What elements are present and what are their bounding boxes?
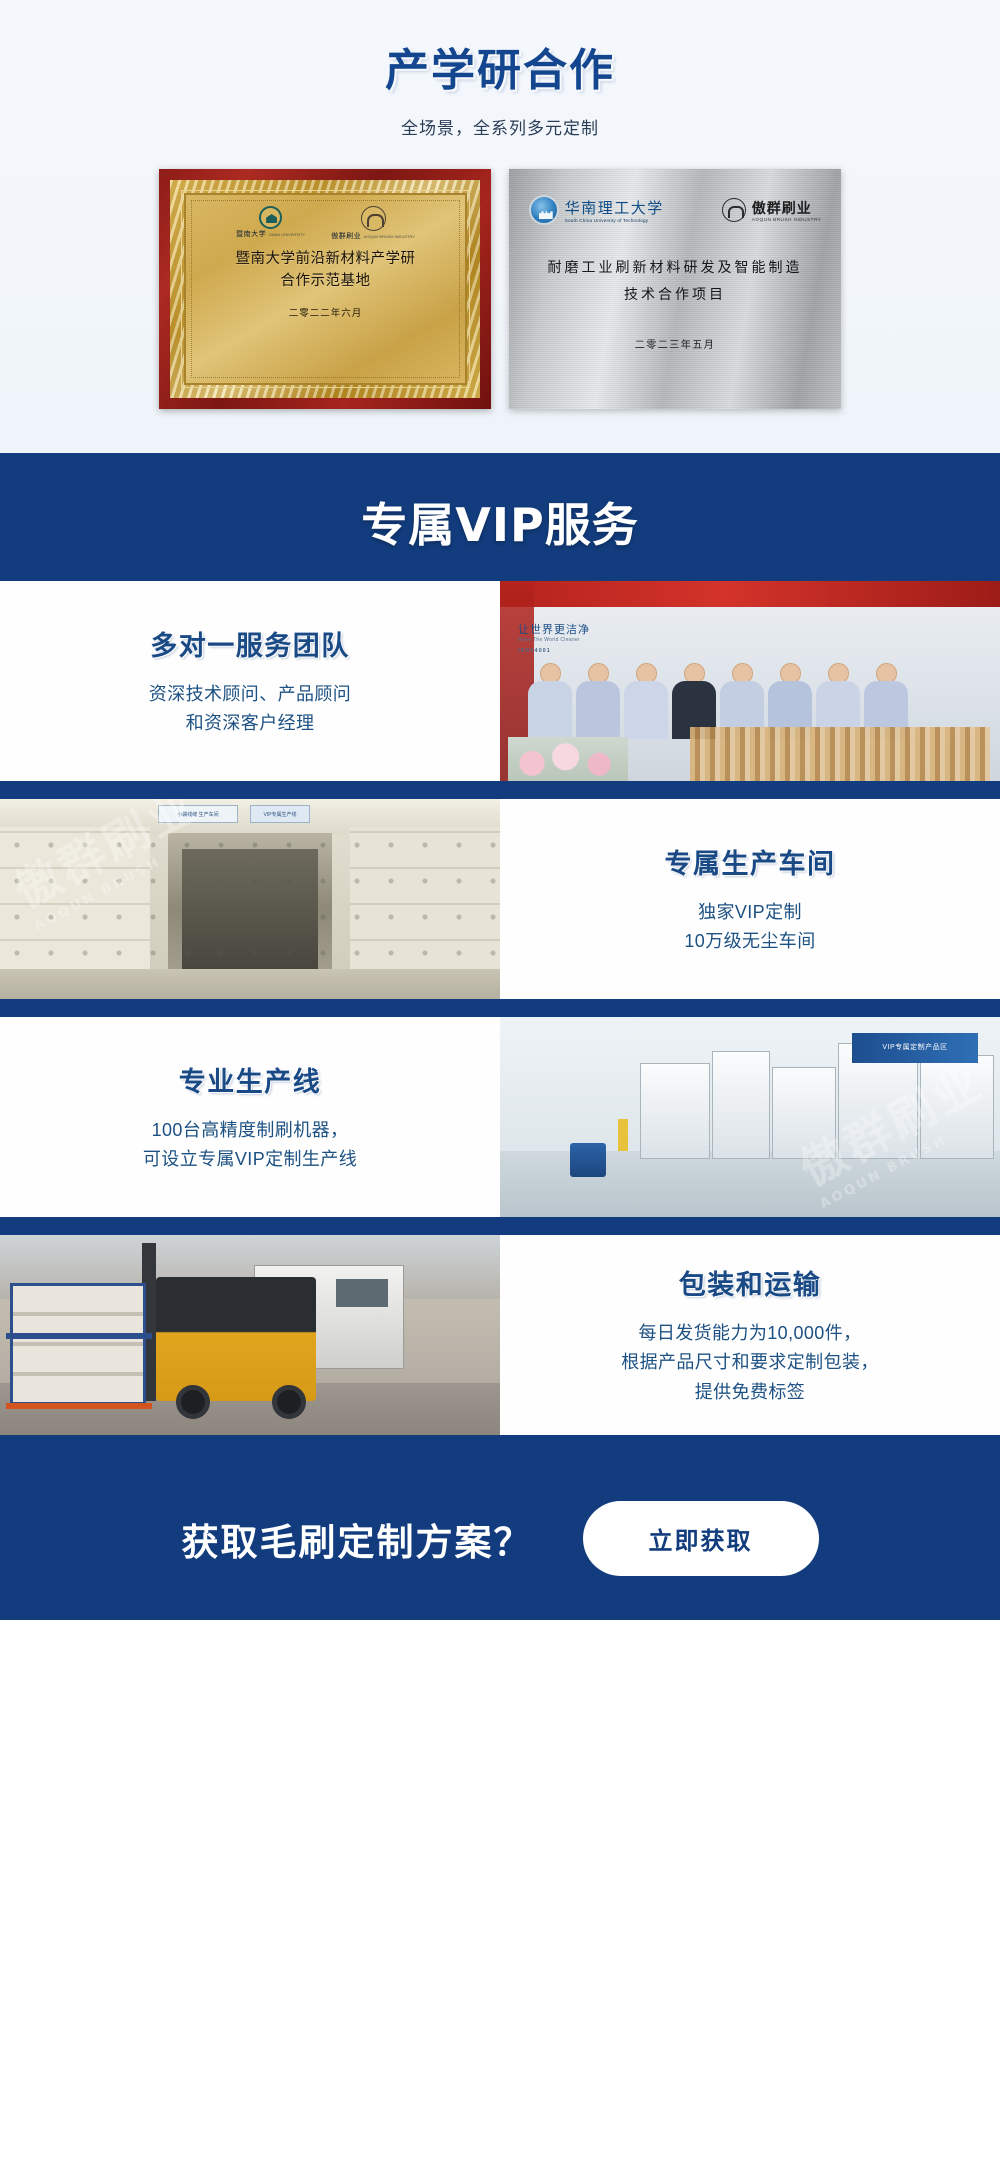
plaque-jinan-university: 暨南大学 JINAN UNIVERSITY 傲群刷业 AOQUN BRUSH I… xyxy=(159,169,491,409)
vip-card-desc-line: 可设立专属VIP定制生产线 xyxy=(143,1145,357,1174)
vip-card-packaging-shipping: 包装和运输 每日发货能力为10,000件， 根据产品尺寸和要求定制包装， 提供免… xyxy=(0,1235,1000,1435)
vip-card-title: 专业生产线 xyxy=(179,1060,322,1099)
team-member xyxy=(576,663,620,739)
vip-card-desc-line: 资深技术顾问、产品顾问 xyxy=(149,680,351,709)
cta-section: 获取毛刷定制方案？ 立即获取 xyxy=(0,1457,1000,1620)
vip-card-text: 专属生产车间 独家VIP定制 10万级无尘车间 xyxy=(500,799,1000,999)
get-quote-button[interactable]: 立即获取 xyxy=(583,1501,819,1576)
workshop-sign-1: 小袋线缝 生产车间 xyxy=(158,805,238,823)
machine xyxy=(640,1063,710,1159)
plaque-date: 二零二二年六月 xyxy=(289,305,363,319)
jinan-university-logo-en: JINAN UNIVERSITY xyxy=(269,232,306,237)
scut-logo-cn: 华南理工大学 xyxy=(565,197,664,218)
plaque-line-2: 合作示范基地 xyxy=(281,270,371,292)
production-line-machines-photo: VIP专属定制产品区 傲群刷业 AOQUN BRUSH xyxy=(500,1017,1000,1217)
booth-slogan-en: Make The World Cleaner xyxy=(518,637,590,643)
team-member xyxy=(528,663,572,739)
vip-card-desc-line: 100台高精度制刷机器， xyxy=(143,1116,357,1145)
aoqun-arch-icon xyxy=(722,198,746,222)
vip-card-list: 多对一服务团队 资深技术顾问、产品顾问 和资深客户经理 让世界更洁净 Make … xyxy=(0,581,1000,1435)
jinan-university-crest-icon xyxy=(259,206,282,229)
vip-card-workshop: 小袋线缝 生产车间 VIP专属生产线 傲群刷业 AOQUN BRUSH 专属生产… xyxy=(0,799,1000,999)
machine xyxy=(920,1055,994,1159)
booth-slogan-cn: 让世界更洁净 xyxy=(518,624,590,636)
flower-arrangement xyxy=(508,737,628,781)
clean-room-corridor-photo: 小袋线缝 生产车间 VIP专属生产线 傲群刷业 AOQUN BRUSH xyxy=(0,799,500,999)
plaque-face: 暨南大学 JINAN UNIVERSITY 傲群刷业 AOQUN BRUSH I… xyxy=(184,193,467,385)
vip-card-desc-line: 独家VIP定制 xyxy=(684,898,815,927)
plaque-scut-cooperation: 华南理工大学 South China University of Technol… xyxy=(509,169,841,409)
vip-card-text: 多对一服务团队 资深技术顾问、产品顾问 和资深客户经理 xyxy=(0,581,500,781)
forklift xyxy=(156,1277,316,1401)
vip-card-text: 专业生产线 100台高精度制刷机器， 可设立专属VIP定制生产线 xyxy=(0,1017,500,1217)
vip-zone-banner: VIP专属定制产品区 xyxy=(852,1033,978,1063)
scut-logo-en: South China University of Technology xyxy=(565,218,664,223)
plaque-logo-row: 暨南大学 JINAN UNIVERSITY 傲群刷业 AOQUN BRUSH I… xyxy=(236,206,415,241)
vip-card-desc: 100台高精度制刷机器， 可设立专属VIP定制生产线 xyxy=(143,1116,357,1174)
team-member xyxy=(624,663,668,739)
booth-slogan-sign: 让世界更洁净 Make The World Cleaner ISO14001 xyxy=(518,621,590,654)
vip-card-desc-line: 每日发货能力为10,000件， xyxy=(621,1319,879,1348)
vip-card-desc-line: 提供免费标签 xyxy=(621,1378,879,1407)
vip-card-desc: 每日发货能力为10,000件， 根据产品尺寸和要求定制包装， 提供免费标签 xyxy=(621,1319,879,1406)
page-title: 产学研合作 xyxy=(0,34,1000,98)
plaque-line-1: 暨南大学前沿新材料产学研 xyxy=(236,248,416,270)
aoqun-logo-en: AOQUN BRUSH INDUSTRY xyxy=(364,234,415,239)
vip-card-title: 包装和运输 xyxy=(679,1263,822,1302)
forklift-loading-truck-photo xyxy=(0,1235,500,1435)
brush-samples xyxy=(690,727,990,781)
cta-question: 获取毛刷定制方案？ xyxy=(182,1512,533,1566)
machine xyxy=(772,1067,836,1159)
vip-card-desc: 资深技术顾问、产品顾问 和资深客户经理 xyxy=(149,680,351,738)
scut-seal-icon xyxy=(529,195,559,225)
aoqun-brush-logo: 傲群刷业 AOQUN BRUSH INDUSTRY xyxy=(722,198,821,223)
vip-card-desc-line: 和资深客户经理 xyxy=(149,709,351,738)
steel-plaque-date: 二零二三年五月 xyxy=(635,336,716,351)
aoqun-logo-en: AOQUN BRUSH INDUSTRY xyxy=(752,218,821,223)
aoqun-logo-cn: 傲群刷业 xyxy=(331,233,361,240)
plaque-gallery: 暨南大学 JINAN UNIVERSITY 傲群刷业 AOQUN BRUSH I… xyxy=(0,169,1000,409)
vip-card-text: 包装和运输 每日发货能力为10,000件， 根据产品尺寸和要求定制包装， 提供免… xyxy=(500,1235,1000,1435)
machine xyxy=(712,1051,770,1159)
palletized-cartons xyxy=(10,1283,146,1405)
jinan-university-logo: 暨南大学 JINAN UNIVERSITY xyxy=(236,206,305,239)
vip-card-production-line: 专业生产线 100台高精度制刷机器， 可设立专属VIP定制生产线 xyxy=(0,1017,1000,1217)
steel-plaque-line-1: 耐磨工业刷新材料研发及智能制造 xyxy=(548,255,803,282)
vip-card-desc-line: 10万级无尘车间 xyxy=(684,927,815,956)
vip-card-desc-line: 根据产品尺寸和要求定制包装， xyxy=(621,1348,879,1377)
exhibition-booth-team-photo: 让世界更洁净 Make The World Cleaner ISO14001 xyxy=(500,581,1000,781)
page-subtitle: 全场景，全系列多元定制 xyxy=(0,114,1000,139)
vip-card-title: 专属生产车间 xyxy=(665,842,836,881)
plaque-bevel: 暨南大学 JINAN UNIVERSITY 傲群刷业 AOQUN BRUSH I… xyxy=(170,180,480,398)
jinan-university-logo-cn: 暨南大学 xyxy=(236,231,266,238)
workshop-sign-2: VIP专属生产线 xyxy=(250,805,310,823)
scut-logo: 华南理工大学 South China University of Technol… xyxy=(529,195,664,225)
vip-section-title: 专属VIP服务 xyxy=(0,489,1000,555)
cooperation-section: 产学研合作 全场景，全系列多元定制 暨南大学 JINAN UNIVERSITY xyxy=(0,0,1000,453)
steel-plaque-line-2: 技术合作项目 xyxy=(624,282,726,309)
vip-service-section: 专属VIP服务 多对一服务团队 资深技术顾问、产品顾问 和资深客户经理 让世界更 xyxy=(0,453,1000,1457)
aoqun-brush-logo: 傲群刷业 AOQUN BRUSH INDUSTRY xyxy=(331,206,415,241)
product-detail-page: 产学研合作 全场景，全系列多元定制 暨南大学 JINAN UNIVERSITY xyxy=(0,0,1000,1620)
vip-card-desc: 独家VIP定制 10万级无尘车间 xyxy=(684,898,815,956)
aoqun-arch-icon xyxy=(361,206,386,231)
steel-plaque-logo-row: 华南理工大学 South China University of Technol… xyxy=(529,195,822,225)
collection-bin xyxy=(570,1143,606,1177)
booth-iso-code: ISO14001 xyxy=(518,648,590,654)
vip-card-service-team: 多对一服务团队 资深技术顾问、产品顾问 和资深客户经理 让世界更洁净 Make … xyxy=(0,581,1000,781)
vip-card-title: 多对一服务团队 xyxy=(150,624,350,663)
aoqun-logo-cn: 傲群刷业 xyxy=(752,198,821,218)
